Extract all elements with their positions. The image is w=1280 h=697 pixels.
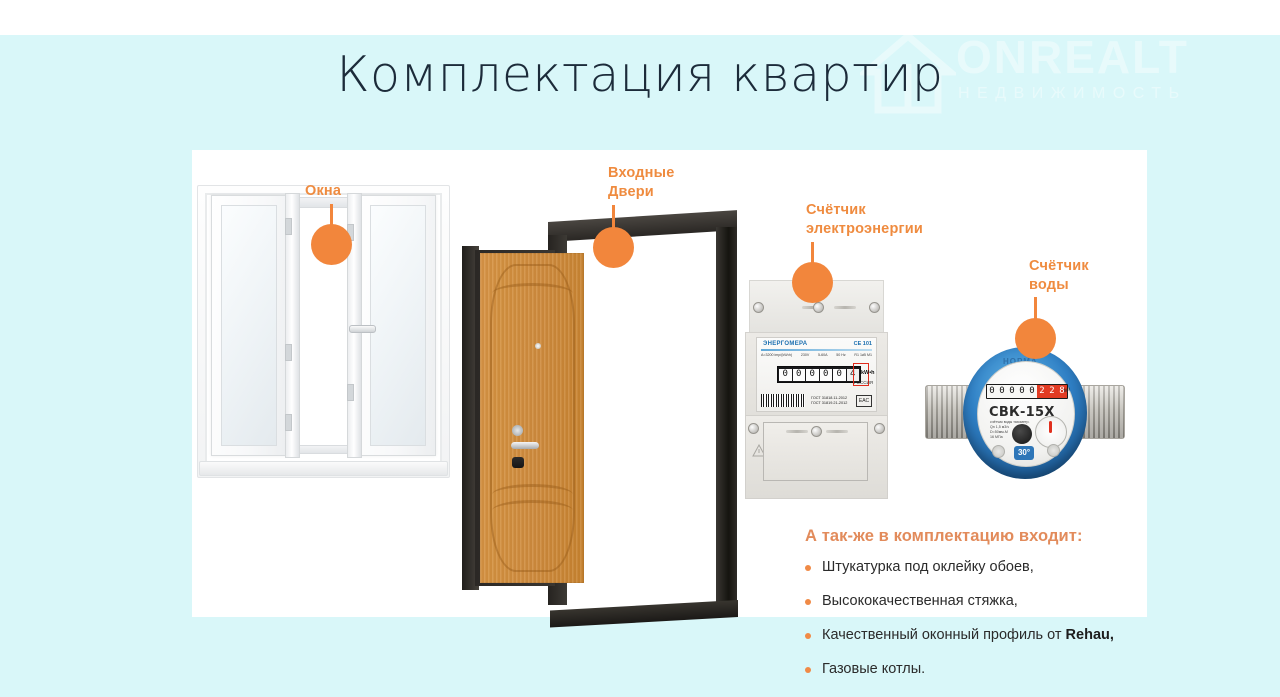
window-sash-edge-left (285, 193, 300, 458)
meter-spec-frequency: 50 Hz (836, 353, 845, 357)
list-item: Качественный оконный профиль от Rehau, (805, 626, 1225, 645)
water-meter-digit: 0 (1017, 385, 1027, 398)
meter-digit: 0 (779, 369, 792, 381)
door-illustration (462, 222, 737, 617)
door-wave-molding (492, 283, 573, 304)
screw-icon (813, 302, 824, 313)
window-hinge-icon (347, 384, 354, 401)
meter-unit-label: kW•h (861, 370, 875, 376)
barcode-icon (761, 394, 805, 407)
door-peephole-icon (535, 343, 541, 349)
latch-slot (826, 430, 848, 433)
window-glass-left (221, 205, 277, 446)
list-item-main: Газовые котлы. (822, 661, 925, 677)
list-item-text: Высококачественная стяжка, (822, 592, 1018, 611)
meter-digit: 0 (793, 369, 806, 381)
screw-icon (748, 423, 759, 434)
water-meter-digit: 2 (1037, 385, 1047, 398)
extras-heading: А так-же в комплектацию входит: (805, 527, 1225, 546)
electric-meter-illustration: ЭНЕРГОМЕРА CE 101 A=3200 imp/(kW•h) 230V… (745, 280, 888, 499)
water-meter-digit: 0 (987, 385, 997, 398)
window-hinge-icon (285, 218, 292, 235)
bullet-icon (805, 667, 811, 673)
callout-dot-water-meter[interactable] (1015, 318, 1056, 359)
callout-label-water-meter: Счётчик воды (1029, 257, 1089, 295)
list-item: Высококачественная стяжка, (805, 592, 1225, 611)
meter-gost-line2: ГОСТ 31819.21-2012 (811, 401, 847, 406)
water-meter-digit: 2 (1047, 385, 1057, 398)
water-meter-digit: 0 (997, 385, 1007, 398)
water-meter-impeller-window (1012, 424, 1032, 444)
meter-digit: 0 (806, 369, 819, 381)
window-bottom-rail (298, 445, 349, 454)
list-item-main: Штукатурка под оклейку обоев, (822, 559, 1034, 575)
meter-country-label: РОССИЯ (854, 380, 873, 385)
eac-certification-icon: EAC (856, 395, 872, 407)
meter-spec-impulse: A=3200 imp/(kW•h) (761, 353, 792, 357)
window-hinge-icon (285, 344, 292, 361)
water-meter-illustration: НОРМА 0 0 0 0 0 2 2 8 м³ СВК-15Х счётчик… (925, 345, 1125, 495)
callout-label-windows: Окна (305, 182, 341, 201)
door-lock-icon (512, 457, 524, 468)
latch-slot (786, 430, 808, 433)
door-leaf (480, 253, 584, 583)
meter-accent-line (761, 349, 872, 351)
screw-icon (811, 426, 822, 437)
dial-needle-icon (1049, 421, 1052, 433)
page-title: Комплектация квартир (0, 46, 1280, 103)
callout-dot-windows[interactable] (311, 224, 352, 265)
door-wave-molding (492, 500, 573, 521)
meter-faceplate: ЭНЕРГОМЕРА CE 101 A=3200 imp/(kW•h) 230V… (756, 337, 877, 412)
list-item-main: Качественный оконный профиль от (822, 627, 1066, 643)
meter-spec-class: R1 1кВ М1 (854, 353, 872, 357)
certification-mark-icon (992, 445, 1005, 458)
certification-mark-icon (1047, 444, 1060, 457)
door-handle-icon (511, 442, 539, 449)
screw-icon (874, 423, 885, 434)
bullet-icon (805, 565, 811, 571)
meter-model-label: CE 101 (854, 341, 872, 347)
meter-digit-display: 0 0 0 0 0 4 (777, 366, 861, 383)
bullet-icon (805, 633, 811, 639)
door-panel-molding (490, 264, 575, 572)
window-sash-left (211, 195, 287, 456)
meter-digit: 0 (820, 369, 833, 381)
extras-block: А так-же в комплектацию входит: Штукатур… (805, 527, 1225, 694)
meter-terminal-cover (763, 422, 868, 481)
door-frame-right (716, 227, 737, 607)
list-item-main: Высококачественная стяжка, (822, 593, 1018, 609)
screw-icon (869, 302, 880, 313)
meter-brand-label: ЭНЕРГОМЕРА (763, 341, 807, 347)
list-item-text: Штукатурка под оклейку обоев, (822, 558, 1034, 577)
callout-label-entry-doors: Входные Двери (608, 164, 674, 202)
water-meter-digit-display: 0 0 0 0 0 2 2 8 (986, 384, 1068, 399)
list-item-text: Качественный оконный профиль от Rehau, (822, 626, 1114, 645)
window-handle-icon (349, 325, 376, 333)
meter-spec-voltage: 230V (801, 353, 809, 357)
list-item-bold: Rehau, (1066, 627, 1114, 643)
callout-dot-power-meter[interactable] (792, 262, 833, 303)
water-meter-dial-face: 0 0 0 0 0 2 2 8 м³ СВК-15Х счётчик воды … (977, 361, 1075, 467)
window-hinge-icon (285, 414, 292, 431)
meter-spec-current: 5-60A (818, 353, 828, 357)
meter-gost-block: ГОСТ 31818.11-2012 ГОСТ 31819.21-2012 (811, 396, 847, 406)
latch-slot (834, 306, 856, 309)
slide-root: ONREALT НЕДВИЖИМОСТЬ Комплектация кварти… (0, 0, 1280, 697)
water-meter-digit: 0 (1007, 385, 1017, 398)
door-cylinder-lock-icon (512, 425, 523, 436)
screw-icon (753, 302, 764, 313)
window-sill (199, 461, 448, 476)
water-meter-unit-label: м³ (1064, 388, 1070, 394)
list-item-text: Газовые котлы. (822, 660, 925, 679)
list-item: Штукатурка под оклейку обоев, (805, 558, 1225, 577)
callout-label-power-meter: Счётчик электроэнергии (806, 201, 923, 239)
meter-spec-row: A=3200 imp/(kW•h) 230V 5-60A 50 Hz R1 1к… (761, 353, 872, 357)
bullet-icon (805, 599, 811, 605)
list-item: Газовые котлы. (805, 660, 1225, 679)
meter-digit: 0 (833, 369, 846, 381)
callout-dot-entry-doors[interactable] (593, 227, 634, 268)
window-glass-right (370, 205, 426, 446)
water-meter-temp-badge: 30° (1014, 446, 1034, 460)
water-meter-digit: 0 (1027, 385, 1037, 398)
